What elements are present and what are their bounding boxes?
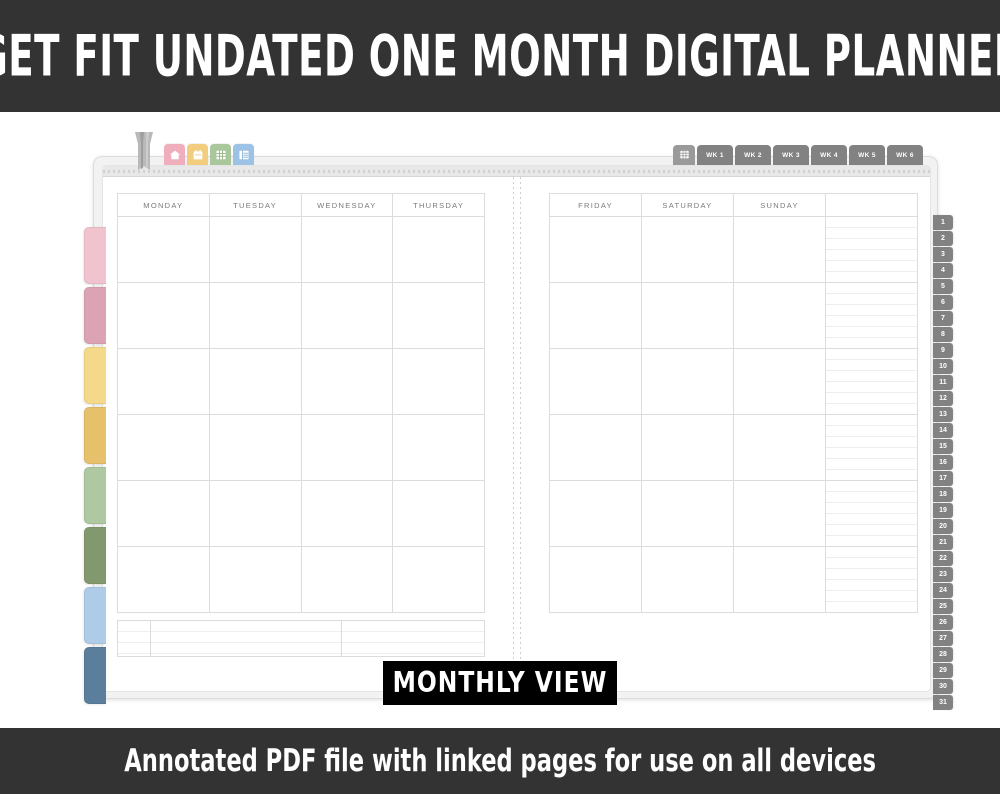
notes-cell[interactable] xyxy=(826,217,918,283)
page-title: GET FIT UNDATED ONE MONTH DIGITAL PLANNE… xyxy=(0,22,1000,89)
day-tab-label: 14 xyxy=(939,427,947,434)
day-tab-label: 4 xyxy=(941,267,945,274)
calendar-day-cell[interactable] xyxy=(209,349,301,415)
footer-ruled-lines xyxy=(118,621,150,656)
calendar-week-row xyxy=(550,547,918,613)
day-tab-label: 26 xyxy=(939,619,947,626)
day-tab-label: 8 xyxy=(941,331,945,338)
day-tab-label: 19 xyxy=(939,507,947,514)
day-tab-4[interactable]: 4 xyxy=(933,263,953,278)
weekday-header-row: FRIDAYSATURDAYSUNDAY xyxy=(550,194,918,217)
calendar-week-row xyxy=(118,349,485,415)
tagline-banner: Annotated PDF file with linked pages for… xyxy=(0,728,1000,794)
calendar-grid-left: MONDAYTUESDAYWEDNESDAYTHURSDAY xyxy=(117,193,485,613)
calendar-day-cell[interactable] xyxy=(642,415,734,481)
calendar-day-cell[interactable] xyxy=(734,481,826,547)
day-tab-1[interactable]: 1 xyxy=(933,215,953,230)
calendar-day-cell[interactable] xyxy=(642,481,734,547)
category-tab-calendar[interactable] xyxy=(187,144,208,165)
day-tab-label: 20 xyxy=(939,523,947,530)
footer-note-cell[interactable] xyxy=(118,621,151,657)
calendar-day-cell[interactable] xyxy=(118,217,210,283)
day-tab-31[interactable]: 31 xyxy=(933,695,953,710)
calendar-day-cell[interactable] xyxy=(734,415,826,481)
week-tab-label: WK 6 xyxy=(896,152,914,159)
side-tab-2[interactable] xyxy=(84,287,106,344)
day-tab-10[interactable]: 10 xyxy=(933,359,953,374)
day-tab-5[interactable]: 5 xyxy=(933,279,953,294)
calendar-day-cell[interactable] xyxy=(301,415,393,481)
calendar-day-cell[interactable] xyxy=(550,481,642,547)
day-tab-label: 1 xyxy=(941,219,945,226)
calendar-week-row xyxy=(118,547,485,613)
planner-stage: WK 1WK 2WK 3WK 4WK 5WK 6 123456789101112… xyxy=(0,112,1000,728)
calendar-day-cell[interactable] xyxy=(642,283,734,349)
calendar-week-row xyxy=(118,217,485,283)
day-tab-14[interactable]: 14 xyxy=(933,423,953,438)
side-tab-4[interactable] xyxy=(84,407,106,464)
left-page: MONDAYTUESDAYWEDNESDAYTHURSDAY xyxy=(103,177,499,692)
week-tab-2[interactable]: WK 2 xyxy=(735,145,771,165)
calendar-day-cell[interactable] xyxy=(393,217,485,283)
day-tab-6[interactable]: 6 xyxy=(933,295,953,310)
day-tab-23[interactable]: 23 xyxy=(933,567,953,582)
planner-top-bar xyxy=(103,166,931,177)
day-tab-8[interactable]: 8 xyxy=(933,327,953,342)
side-tab-strip[interactable] xyxy=(84,227,106,707)
day-tab-label: 17 xyxy=(939,475,947,482)
footer-cell xyxy=(549,620,918,656)
day-tab-label: 13 xyxy=(939,411,947,418)
day-tab-label: 2 xyxy=(941,235,945,242)
calendar-day-cell[interactable] xyxy=(301,547,393,613)
calendar-week-row xyxy=(550,349,918,415)
calendar-day-cell[interactable] xyxy=(550,283,642,349)
footer-ruled-lines xyxy=(151,621,341,656)
week-tab-4[interactable]: WK 4 xyxy=(811,145,847,165)
left-footer-strip xyxy=(117,620,485,657)
day-tab-27[interactable]: 27 xyxy=(933,631,953,646)
home-icon xyxy=(169,149,181,161)
calendar-day-cell[interactable] xyxy=(209,481,301,547)
week-tab-1[interactable]: WK 1 xyxy=(697,145,733,165)
notes-cell[interactable] xyxy=(826,349,918,415)
weekday-header-thursday: THURSDAY xyxy=(393,194,485,217)
view-label-text: MONTHLY VIEW xyxy=(393,667,608,700)
day-tab-15[interactable]: 15 xyxy=(933,439,953,454)
day-tab-12[interactable]: 12 xyxy=(933,391,953,406)
calendar-day-cell[interactable] xyxy=(550,547,642,613)
calendar-day-cell[interactable] xyxy=(734,217,826,283)
calendar-day-cell[interactable] xyxy=(209,283,301,349)
calendar-day-cell[interactable] xyxy=(118,283,210,349)
day-tab-strip[interactable]: 1234567891011121314151617181920212223242… xyxy=(933,215,953,710)
planner-device: WK 1WK 2WK 3WK 4WK 5WK 6 123456789101112… xyxy=(93,156,938,699)
day-tab-label: 9 xyxy=(941,347,945,354)
day-tab-label: 27 xyxy=(939,635,947,642)
right-footer-strip xyxy=(549,620,918,656)
calendar-week-row xyxy=(118,481,485,547)
week-tab-label: WK 2 xyxy=(744,152,762,159)
calendar-day-cell[interactable] xyxy=(118,547,210,613)
calendar-day-cell[interactable] xyxy=(301,481,393,547)
week-tab-6[interactable]: WK 6 xyxy=(887,145,923,165)
day-tab-label: 16 xyxy=(939,459,947,466)
grid-icon xyxy=(215,149,227,161)
ruler-ticks xyxy=(103,170,931,173)
notes-ruled-lines xyxy=(826,481,917,546)
calendar-day-cell[interactable] xyxy=(734,349,826,415)
planner-listing-image: GET FIT UNDATED ONE MONTH DIGITAL PLANNE… xyxy=(0,0,1000,794)
calendar-day-cell[interactable] xyxy=(393,415,485,481)
weekday-header-saturday: SATURDAY xyxy=(642,194,734,217)
week-tab-label: WK 3 xyxy=(782,152,800,159)
calendar-icon xyxy=(192,149,204,161)
footer-ruled-lines xyxy=(342,621,484,656)
calendar-grid-right: FRIDAYSATURDAYSUNDAY xyxy=(549,193,918,613)
list-icon xyxy=(238,149,250,161)
day-tab-16[interactable]: 16 xyxy=(933,455,953,470)
day-tab-label: 23 xyxy=(939,571,947,578)
day-tab-13[interactable]: 13 xyxy=(933,407,953,422)
calendar-day-cell[interactable] xyxy=(642,547,734,613)
day-tab-label: 7 xyxy=(941,315,945,322)
calendar-day-cell[interactable] xyxy=(550,349,642,415)
calendar-day-cell[interactable] xyxy=(118,481,210,547)
calendar-day-cell[interactable] xyxy=(642,217,734,283)
side-tab-3[interactable] xyxy=(84,347,106,404)
day-tab-7[interactable]: 7 xyxy=(933,311,953,326)
week-tab-overview[interactable] xyxy=(673,145,695,165)
calendar-day-cell[interactable] xyxy=(118,415,210,481)
category-tab-home[interactable] xyxy=(164,144,185,165)
calendar-day-cell[interactable] xyxy=(393,349,485,415)
day-tab-label: 11 xyxy=(939,379,946,386)
category-tab-strip[interactable] xyxy=(164,144,254,165)
day-tab-label: 18 xyxy=(939,491,947,498)
footer-note-cell[interactable] xyxy=(151,621,342,657)
notes-column-header xyxy=(826,194,918,217)
day-tab-label: 25 xyxy=(939,603,947,610)
weekday-header-tuesday: TUESDAY xyxy=(209,194,301,217)
day-tab-17[interactable]: 17 xyxy=(933,471,953,486)
calendar-week-row xyxy=(118,283,485,349)
weekday-header-friday: FRIDAY xyxy=(550,194,642,217)
calendar-day-cell[interactable] xyxy=(301,283,393,349)
day-tab-label: 12 xyxy=(939,395,947,402)
side-tab-1[interactable] xyxy=(84,227,106,284)
notes-ruled-lines xyxy=(826,547,917,612)
day-tab-label: 5 xyxy=(941,283,945,290)
weekday-header-monday: MONDAY xyxy=(118,194,210,217)
day-tab-26[interactable]: 26 xyxy=(933,615,953,630)
calendar-day-cell[interactable] xyxy=(550,217,642,283)
day-tab-29[interactable]: 29 xyxy=(933,663,953,678)
day-tab-label: 15 xyxy=(939,443,947,450)
calendar-day-cell[interactable] xyxy=(734,547,826,613)
category-tab-list[interactable] xyxy=(233,144,254,165)
calendar-day-cell[interactable] xyxy=(393,547,485,613)
calendar-grid-icon xyxy=(679,149,690,162)
notes-ruled-lines xyxy=(826,283,917,348)
weekday-header-sunday: SUNDAY xyxy=(734,194,826,217)
day-tab-3[interactable]: 3 xyxy=(933,247,953,262)
day-tab-24[interactable]: 24 xyxy=(933,583,953,598)
week-tab-5[interactable]: WK 5 xyxy=(849,145,885,165)
week-tab-3[interactable]: WK 3 xyxy=(773,145,809,165)
calendar-week-row xyxy=(550,217,918,283)
day-tab-25[interactable]: 25 xyxy=(933,599,953,614)
calendar-week-row xyxy=(550,415,918,481)
day-tab-label: 22 xyxy=(939,555,947,562)
planner-binding xyxy=(499,177,535,692)
calendar-day-cell[interactable] xyxy=(209,217,301,283)
calendar-day-cell[interactable] xyxy=(393,283,485,349)
footer-note-cell[interactable] xyxy=(341,621,484,657)
day-tab-label: 28 xyxy=(939,651,947,658)
planner-screen: MONDAYTUESDAYWEDNESDAYTHURSDAY xyxy=(102,165,931,692)
calendar-day-cell[interactable] xyxy=(209,415,301,481)
day-tab-label: 31 xyxy=(939,699,947,706)
week-tab-label: WK 1 xyxy=(706,152,724,159)
week-tab-label: WK 4 xyxy=(820,152,838,159)
side-tab-5[interactable] xyxy=(84,467,106,524)
calendar-week-row xyxy=(118,415,485,481)
notes-cell[interactable] xyxy=(826,415,918,481)
calendar-day-cell[interactable] xyxy=(118,349,210,415)
calendar-day-cell[interactable] xyxy=(550,415,642,481)
day-tab-11[interactable]: 11 xyxy=(933,375,953,390)
calendar-day-cell[interactable] xyxy=(301,349,393,415)
week-tab-strip[interactable]: WK 1WK 2WK 3WK 4WK 5WK 6 xyxy=(673,145,923,165)
notes-cell[interactable] xyxy=(826,283,918,349)
notes-ruled-lines xyxy=(826,415,917,480)
day-tab-label: 3 xyxy=(941,251,945,258)
side-tab-7[interactable] xyxy=(84,587,106,644)
footer-row xyxy=(118,621,485,657)
day-tab-28[interactable]: 28 xyxy=(933,647,953,662)
notes-ruled-lines xyxy=(826,349,917,414)
right-page: FRIDAYSATURDAYSUNDAY xyxy=(535,177,931,692)
calendar-day-cell[interactable] xyxy=(734,283,826,349)
day-tab-19[interactable]: 19 xyxy=(933,503,953,518)
notes-cell[interactable] xyxy=(826,547,918,613)
planner-spread: MONDAYTUESDAYWEDNESDAYTHURSDAY xyxy=(103,177,931,692)
day-tab-22[interactable]: 22 xyxy=(933,551,953,566)
calendar-day-cell[interactable] xyxy=(642,349,734,415)
side-tab-6[interactable] xyxy=(84,527,106,584)
day-tab-20[interactable]: 20 xyxy=(933,519,953,534)
day-tab-21[interactable]: 21 xyxy=(933,535,953,550)
calendar-day-cell[interactable] xyxy=(301,217,393,283)
calendar-day-cell[interactable] xyxy=(209,547,301,613)
week-tab-label: WK 5 xyxy=(858,152,876,159)
weekday-header-row: MONDAYTUESDAYWEDNESDAYTHURSDAY xyxy=(118,194,485,217)
day-tab-label: 30 xyxy=(939,683,947,690)
day-tab-2[interactable]: 2 xyxy=(933,231,953,246)
day-tab-label: 29 xyxy=(939,667,947,674)
day-tab-label: 10 xyxy=(939,363,947,370)
view-label-badge: MONTHLY VIEW xyxy=(383,661,617,705)
calendar-week-row xyxy=(550,481,918,547)
tagline-text: Annotated PDF file with linked pages for… xyxy=(124,743,876,778)
title-banner: GET FIT UNDATED ONE MONTH DIGITAL PLANNE… xyxy=(0,0,1000,112)
day-tab-label: 6 xyxy=(941,299,945,306)
calendar-week-row xyxy=(550,283,918,349)
category-tab-grid[interactable] xyxy=(210,144,231,165)
bookmark-ribbon-icon xyxy=(131,132,157,170)
notes-cell[interactable] xyxy=(826,481,918,547)
side-tab-8[interactable] xyxy=(84,647,106,704)
calendar-day-cell[interactable] xyxy=(393,481,485,547)
day-tab-18[interactable]: 18 xyxy=(933,487,953,502)
day-tab-30[interactable]: 30 xyxy=(933,679,953,694)
day-tab-9[interactable]: 9 xyxy=(933,343,953,358)
weekday-header-wednesday: WEDNESDAY xyxy=(301,194,393,217)
notes-ruled-lines xyxy=(826,217,917,282)
day-tab-label: 24 xyxy=(939,587,947,594)
day-tab-label: 21 xyxy=(939,539,947,546)
